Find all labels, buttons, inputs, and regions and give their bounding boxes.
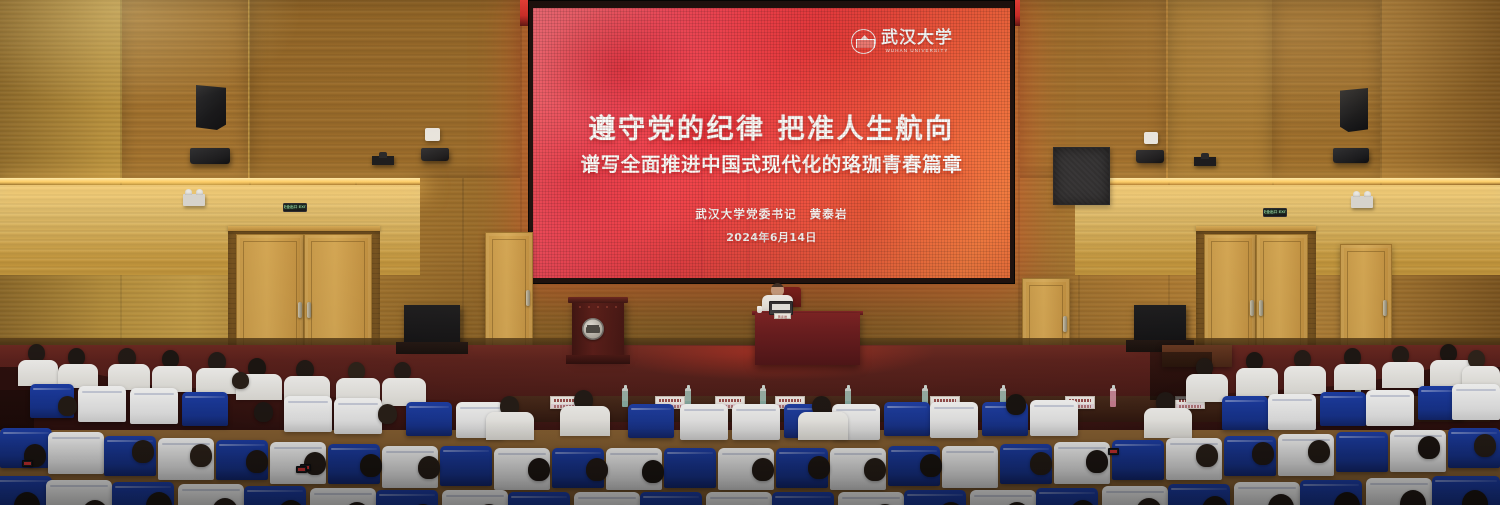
ptz-camera-icon — [1194, 157, 1216, 166]
audience-head — [864, 458, 886, 481]
seat-cover[interactable] — [942, 446, 998, 488]
seat[interactable] — [406, 402, 452, 436]
audience-body — [1334, 364, 1376, 390]
cove-light-left — [0, 178, 420, 185]
audience-head — [254, 402, 273, 422]
wedge-speaker-icon — [1136, 150, 1164, 163]
seat-cover[interactable] — [1268, 394, 1316, 430]
audience-body — [1382, 362, 1424, 388]
wall-panel — [1168, 0, 1272, 178]
audience-body — [1284, 366, 1326, 394]
smartphone — [296, 466, 307, 473]
wedge-speaker-icon — [1333, 148, 1369, 163]
wifi-access-point-icon — [425, 128, 440, 141]
wifi-access-point-icon — [1144, 132, 1158, 144]
laptop-screen — [772, 304, 790, 310]
seat[interactable] — [884, 402, 930, 436]
door-handle[interactable] — [1383, 300, 1387, 316]
seat-cover[interactable] — [334, 398, 382, 434]
audience-head — [1308, 440, 1330, 463]
slide-subtitle: 谱写全面推进中国式现代化的珞珈青春篇章 — [533, 148, 1010, 177]
led-screen: 武汉大学 WUHAN UNIVERSITY 遵守党的纪律 把准人生航向 谱写全面… — [533, 8, 1010, 278]
door-handle[interactable] — [1250, 300, 1254, 316]
exit-sign-label: 安全出口 EXIT — [283, 205, 307, 210]
seat-cover[interactable] — [130, 388, 178, 424]
audience-head — [1252, 442, 1274, 465]
seat-cover[interactable] — [706, 492, 772, 505]
line-array-speaker-icon — [1340, 88, 1368, 132]
ptz-camera-icon — [372, 156, 394, 165]
audience-head — [1474, 434, 1496, 457]
seat[interactable] — [664, 448, 716, 488]
acoustic-panel — [1053, 147, 1110, 205]
audience-head — [246, 450, 268, 473]
door-frame — [1196, 226, 1316, 231]
audience-body — [18, 360, 58, 386]
exit-sign: 安全出口 EXIT — [1263, 208, 1287, 217]
seat[interactable] — [772, 492, 834, 505]
seat-cover[interactable] — [1452, 384, 1500, 420]
seat[interactable] — [1320, 392, 1366, 426]
cove-light-right — [1075, 178, 1500, 185]
seat-cover[interactable] — [284, 396, 332, 432]
door-handle[interactable] — [307, 302, 311, 318]
audience-body — [1144, 408, 1192, 438]
seat[interactable] — [1112, 440, 1164, 480]
slide-content: 武汉大学 WUHAN UNIVERSITY 遵守党的纪律 把准人生航向 谱写全面… — [533, 8, 1010, 278]
seat[interactable] — [440, 446, 492, 486]
audience-head — [752, 458, 774, 481]
audience-head — [190, 444, 212, 467]
seat[interactable] — [628, 404, 674, 438]
audience-body — [1236, 368, 1278, 396]
seat[interactable] — [1222, 396, 1268, 430]
emergency-light-icon — [183, 194, 205, 206]
audience-head — [586, 458, 608, 481]
lectern-top — [568, 297, 628, 303]
seat-cover[interactable] — [1366, 390, 1414, 426]
audience-head — [378, 404, 397, 424]
seat-cover[interactable] — [46, 480, 112, 505]
exit-sign: 安全出口 EXIT — [283, 203, 307, 212]
seat[interactable] — [182, 392, 228, 426]
auditorium-scene: 武汉大学 WUHAN UNIVERSITY 遵守党的纪律 把准人生航向 谱写全面… — [0, 0, 1500, 505]
speaker-nameplate: 黄泰岩 — [774, 313, 791, 319]
door-frame — [228, 226, 380, 231]
seat[interactable] — [508, 492, 570, 505]
audience-head — [808, 456, 830, 479]
audience-body — [798, 412, 848, 440]
audience-head — [418, 456, 440, 479]
seat-cover[interactable] — [732, 404, 780, 440]
seat-cover[interactable] — [442, 490, 508, 505]
university-seal-icon — [851, 29, 876, 54]
audience-head — [1418, 436, 1440, 459]
wedge-speaker-icon — [190, 148, 230, 164]
university-name-en: WUHAN UNIVERSITY — [886, 49, 949, 54]
slide-title: 遵守党的纪律 把准人生航向 — [533, 107, 1010, 146]
seat-cover[interactable] — [970, 490, 1036, 505]
audience-head — [132, 440, 154, 463]
audience-head — [58, 396, 77, 416]
audience-head — [1086, 450, 1108, 473]
audience-body — [560, 406, 610, 436]
exit-sign-label: 安全出口 EXIT — [1263, 210, 1287, 215]
seat-cover[interactable] — [1030, 400, 1078, 436]
audience-head — [642, 460, 664, 483]
door-handle[interactable] — [1063, 316, 1067, 332]
door-handle[interactable] — [526, 290, 530, 306]
door-handle[interactable] — [298, 302, 302, 318]
seat-cover[interactable] — [48, 432, 104, 474]
slide-presenter: 武汉大学党委书记 黄泰岩 — [533, 206, 1010, 222]
audience-body — [486, 412, 534, 440]
smartphone — [1108, 448, 1119, 455]
audience-head — [1006, 394, 1026, 415]
seat[interactable] — [1336, 432, 1388, 472]
audience — [0, 340, 1500, 505]
university-name-cn: 武汉大学 — [881, 30, 953, 47]
university-logo-text: 武汉大学 WUHAN UNIVERSITY — [881, 30, 953, 54]
line-array-speaker-icon — [196, 85, 226, 130]
university-logo: 武汉大学 WUHAN UNIVERSITY — [851, 29, 953, 54]
seat[interactable] — [376, 490, 438, 505]
seat-cover[interactable] — [838, 492, 904, 505]
seat-cover[interactable] — [574, 492, 640, 505]
seat-cover[interactable] — [680, 404, 728, 440]
door-handle[interactable] — [1259, 300, 1263, 316]
audience-head — [920, 454, 942, 477]
audience-head — [1196, 444, 1218, 467]
wedge-speaker-icon — [421, 148, 449, 161]
subwoofer-right — [1134, 305, 1186, 345]
emergency-light-icon — [1351, 196, 1373, 208]
audience-head — [528, 458, 550, 481]
water-cup — [757, 306, 762, 313]
led-screen-frame: 武汉大学 WUHAN UNIVERSITY 遵守党的纪律 把准人生航向 谱写全面… — [528, 0, 1015, 284]
lectern-inscription — [576, 304, 620, 310]
university-emblem-icon — [582, 318, 604, 340]
audience-head — [1030, 452, 1052, 475]
seat-cover[interactable] — [930, 402, 978, 438]
slide-date: 2024年6月14日 — [533, 229, 1010, 245]
audience-head — [360, 454, 382, 477]
smartphone — [22, 460, 33, 467]
seat[interactable] — [640, 492, 702, 505]
seat-cover[interactable] — [78, 386, 126, 422]
audience-head — [232, 372, 249, 389]
seat-cover[interactable] — [310, 488, 376, 505]
